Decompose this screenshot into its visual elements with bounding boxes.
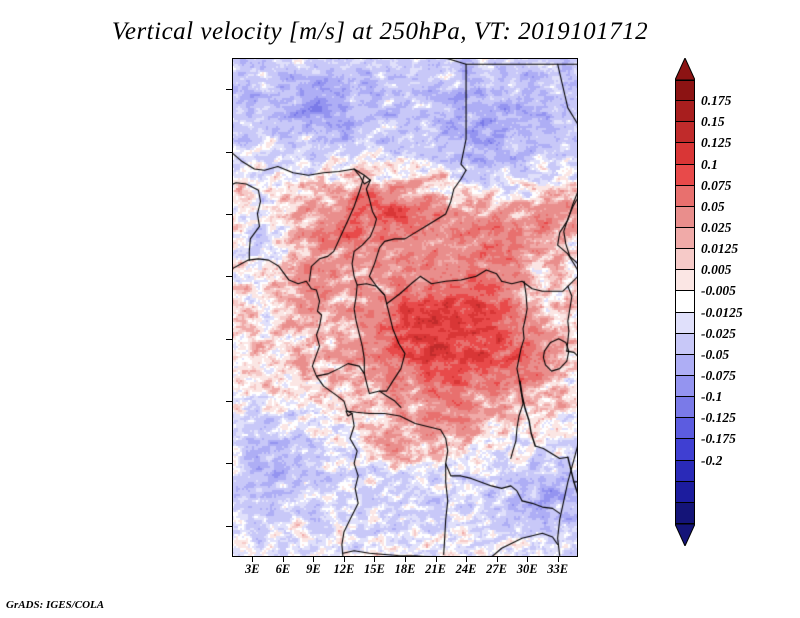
lon-tick-label: 3E xyxy=(245,562,260,577)
lat-tick-mark xyxy=(226,339,232,340)
colorbar-band xyxy=(675,482,695,503)
colorbar-band xyxy=(675,418,695,439)
lon-tick-mark xyxy=(558,557,559,562)
lon-tick-mark xyxy=(405,557,406,562)
colorbar-arrow-max xyxy=(675,58,695,80)
colorbar-band xyxy=(675,207,695,228)
colorbar-tick-label: 0.15 xyxy=(701,114,725,130)
colorbar-band xyxy=(675,270,695,291)
colorbar-band xyxy=(675,439,695,460)
lat-tick-mark xyxy=(226,89,232,90)
lon-tick-label: 21E xyxy=(425,562,446,577)
colorbar-tick-label: 0.05 xyxy=(701,199,725,215)
colorbar-band xyxy=(675,249,695,270)
colorbar-band xyxy=(675,355,695,376)
colorbar-band xyxy=(675,376,695,397)
colorbar-band xyxy=(675,334,695,355)
colorbar-band xyxy=(675,165,695,186)
colorbar-band xyxy=(675,291,695,312)
vertical-velocity-heatmap xyxy=(232,58,578,557)
colorbar-tick-label: -0.075 xyxy=(701,368,736,384)
lon-tick-label: 18E xyxy=(395,562,416,577)
colorbar xyxy=(675,80,695,524)
page-title: Vertical velocity [m/s] at 250hPa, VT: 2… xyxy=(0,18,760,46)
lon-tick-label: 33E xyxy=(547,562,568,577)
lon-tick-mark xyxy=(313,557,314,562)
lon-tick-label: 12E xyxy=(334,562,355,577)
colorbar-tick-label: -0.125 xyxy=(701,410,736,426)
colorbar-band xyxy=(675,461,695,482)
colorbar-arrow-min xyxy=(675,524,695,546)
lon-tick-mark xyxy=(436,557,437,562)
colorbar-band xyxy=(675,80,695,101)
colorbar-band xyxy=(675,228,695,249)
colorbar-tick-label: 0.125 xyxy=(701,135,731,151)
colorbar-band xyxy=(675,122,695,143)
lon-tick-mark xyxy=(374,557,375,562)
lon-tick-label: 6E xyxy=(276,562,291,577)
lat-tick-mark xyxy=(226,276,232,277)
colorbar-tick-label: 0.005 xyxy=(701,262,731,278)
colorbar-tick-label: 0.1 xyxy=(701,157,718,173)
colorbar-tick-label: 0.025 xyxy=(701,220,731,236)
lon-tick-label: 24E xyxy=(456,562,477,577)
lon-tick-label: 30E xyxy=(517,562,538,577)
lon-tick-label: 9E xyxy=(306,562,321,577)
footer-attribution: GrADS: IGES/COLA xyxy=(6,599,104,611)
colorbar-tick-label: -0.175 xyxy=(701,431,736,447)
lat-tick-mark xyxy=(226,401,232,402)
lon-tick-mark xyxy=(497,557,498,562)
lat-tick-mark xyxy=(226,152,232,153)
colorbar-band xyxy=(675,397,695,418)
colorbar-band xyxy=(675,186,695,207)
lon-tick-mark xyxy=(283,557,284,562)
lat-tick-mark xyxy=(226,463,232,464)
lat-tick-mark xyxy=(226,214,232,215)
colorbar-tick-label: -0.1 xyxy=(701,389,722,405)
colorbar-band xyxy=(675,143,695,164)
colorbar-tick-label: -0.025 xyxy=(701,326,736,342)
colorbar-tick-label: 0.175 xyxy=(701,93,731,109)
lon-tick-mark xyxy=(527,557,528,562)
lon-tick-mark xyxy=(252,557,253,562)
colorbar-tick-label: -0.2 xyxy=(701,453,722,469)
colorbar-band xyxy=(675,313,695,334)
lon-tick-label: 15E xyxy=(364,562,385,577)
colorbar-tick-label: -0.005 xyxy=(701,283,736,299)
lon-tick-label: 27E xyxy=(486,562,507,577)
colorbar-tick-label: 0.075 xyxy=(701,178,731,194)
lon-tick-mark xyxy=(466,557,467,562)
colorbar-band xyxy=(675,503,695,524)
lon-tick-mark xyxy=(344,557,345,562)
lat-tick-mark xyxy=(226,526,232,527)
colorbar-tick-label: -0.05 xyxy=(701,347,729,363)
colorbar-tick-label: -0.0125 xyxy=(701,305,743,321)
colorbar-band xyxy=(675,101,695,122)
colorbar-tick-label: 0.0125 xyxy=(701,241,738,257)
map-plot-area xyxy=(232,58,578,557)
